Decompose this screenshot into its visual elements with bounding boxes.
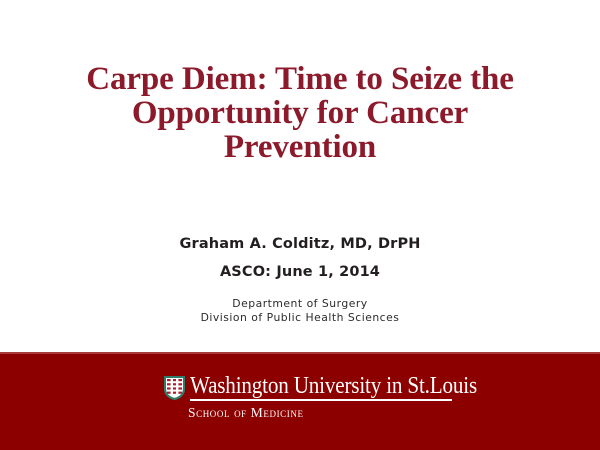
title-line-1: Carpe Diem: Time to Seize the bbox=[0, 62, 600, 96]
presentation-slide: Carpe Diem: Time to Seize the Opportunit… bbox=[0, 0, 600, 450]
slide-title: Carpe Diem: Time to Seize the Opportunit… bbox=[0, 62, 600, 164]
wordmark-underline-rule bbox=[190, 399, 452, 401]
affiliation-info: Department of Surgery Division of Public… bbox=[0, 297, 600, 324]
university-logo: Washington University in St.Louis School… bbox=[164, 374, 464, 436]
affiliation-department: Department of Surgery bbox=[0, 297, 600, 311]
presenter-info: Graham A. Colditz, MD, DrPH ASCO: June 1… bbox=[0, 230, 600, 286]
school-name: School of Medicine bbox=[188, 405, 304, 421]
university-wordmark: Washington University in St.Louis bbox=[190, 374, 453, 399]
washu-shield-icon bbox=[164, 376, 185, 400]
university-wordmark-text: Washington University in St.Louis bbox=[190, 374, 421, 399]
presentation-event: ASCO: June 1, 2014 bbox=[0, 258, 600, 286]
affiliation-division: Division of Public Health Sciences bbox=[0, 311, 600, 325]
presenter-name: Graham A. Colditz, MD, DrPH bbox=[0, 230, 600, 258]
title-line-2: Opportunity for Cancer bbox=[0, 96, 600, 130]
footer-band: Washington University in St.Louis School… bbox=[0, 352, 600, 450]
title-line-3: Prevention bbox=[0, 130, 600, 164]
